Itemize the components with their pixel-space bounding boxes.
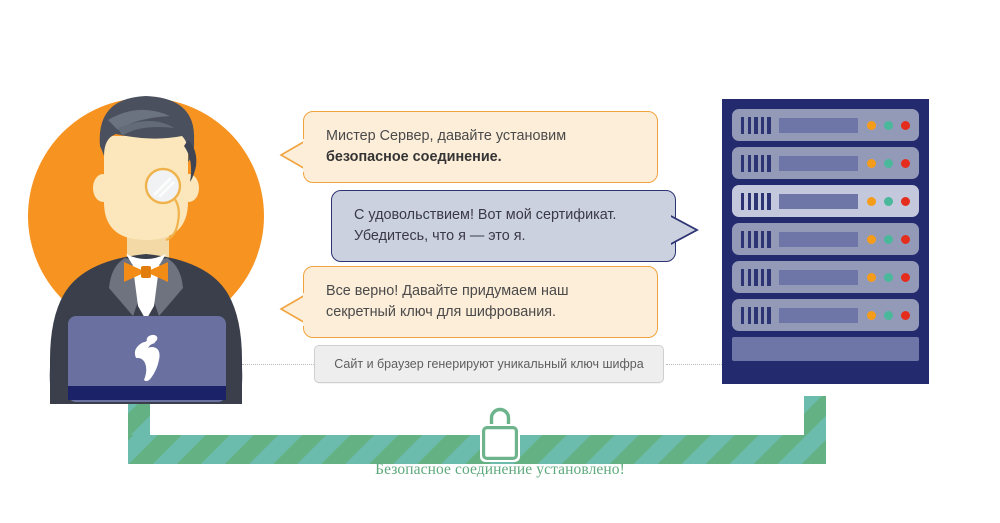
led-orange-icon	[867, 235, 876, 244]
led-red-icon	[901, 159, 910, 168]
led-green-icon	[884, 235, 893, 244]
led-green-icon	[884, 273, 893, 282]
bubble1-line2: безопасное соединение.	[326, 149, 502, 165]
server-unit	[732, 109, 919, 141]
speech-bubble-client-request: Мистер Сервер, давайте установим безопас…	[303, 111, 658, 183]
led-group	[867, 311, 910, 320]
led-group	[867, 235, 910, 244]
led-red-icon	[901, 121, 910, 130]
key-generation-note: Сайт и браузер генерируют уникальный клю…	[314, 345, 664, 383]
bubble3-line1: Все верно! Давайте придумаем наш	[326, 281, 639, 302]
vent-grille-icon	[741, 193, 771, 210]
speech-bubble-tail-server-certificate	[668, 214, 700, 253]
speech-bubble-server-certificate: С удовольствием! Вот мой сертификат. Убе…	[331, 190, 676, 262]
laptop-base	[68, 386, 226, 400]
server-unit	[732, 261, 919, 293]
key-generation-note-text: Сайт и браузер генерируют уникальный клю…	[334, 357, 643, 371]
caption-text: Безопасное соединение установлено!	[0, 461, 1000, 479]
led-group	[867, 197, 910, 206]
gentleman-with-monocle-illustration	[22, 84, 294, 404]
led-orange-icon	[867, 121, 876, 130]
bubble2-line2: Убедитесь, что я — это я.	[354, 226, 657, 247]
server-unit	[732, 223, 919, 255]
led-orange-icon	[867, 311, 876, 320]
led-group	[867, 273, 910, 282]
vent-grille-icon	[741, 117, 771, 134]
led-green-icon	[884, 121, 893, 130]
led-orange-icon	[867, 159, 876, 168]
drive-slot	[779, 308, 858, 323]
infographic-canvas: Безопасное соединение установлено! Сайт …	[0, 0, 1000, 523]
led-group	[867, 121, 910, 130]
drive-slot	[779, 232, 858, 247]
drive-slot	[779, 118, 858, 133]
led-red-icon	[901, 273, 910, 282]
led-green-icon	[884, 197, 893, 206]
drive-slot	[779, 156, 858, 171]
rack-base-panel	[732, 337, 919, 361]
connector-line-server	[666, 364, 728, 365]
led-green-icon	[884, 311, 893, 320]
vent-grille-icon	[741, 307, 771, 324]
led-orange-icon	[867, 273, 876, 282]
led-green-icon	[884, 159, 893, 168]
drive-slot	[779, 270, 858, 285]
bubble2-line1: С удовольствием! Вот мой сертификат.	[354, 205, 657, 226]
server-unit-highlighted	[732, 185, 919, 217]
server-unit	[732, 299, 919, 331]
vent-grille-icon	[741, 155, 771, 172]
vent-grille-icon	[741, 231, 771, 248]
bubble3-line2: секретный ключ для шифрования.	[326, 302, 639, 323]
led-red-icon	[901, 197, 910, 206]
led-red-icon	[901, 235, 910, 244]
server-rack	[722, 99, 929, 384]
laptop	[68, 316, 226, 402]
led-group	[867, 159, 910, 168]
speech-bubble-client-key-proposal: Все верно! Давайте придумаем наш секретн…	[303, 266, 658, 338]
vent-grille-icon	[741, 269, 771, 286]
server-unit	[732, 147, 919, 179]
bubble1-line1: Мистер Сервер, давайте установим	[326, 126, 639, 147]
led-orange-icon	[867, 197, 876, 206]
drive-slot	[779, 194, 858, 209]
padlock-icon	[464, 394, 536, 466]
led-red-icon	[901, 311, 910, 320]
